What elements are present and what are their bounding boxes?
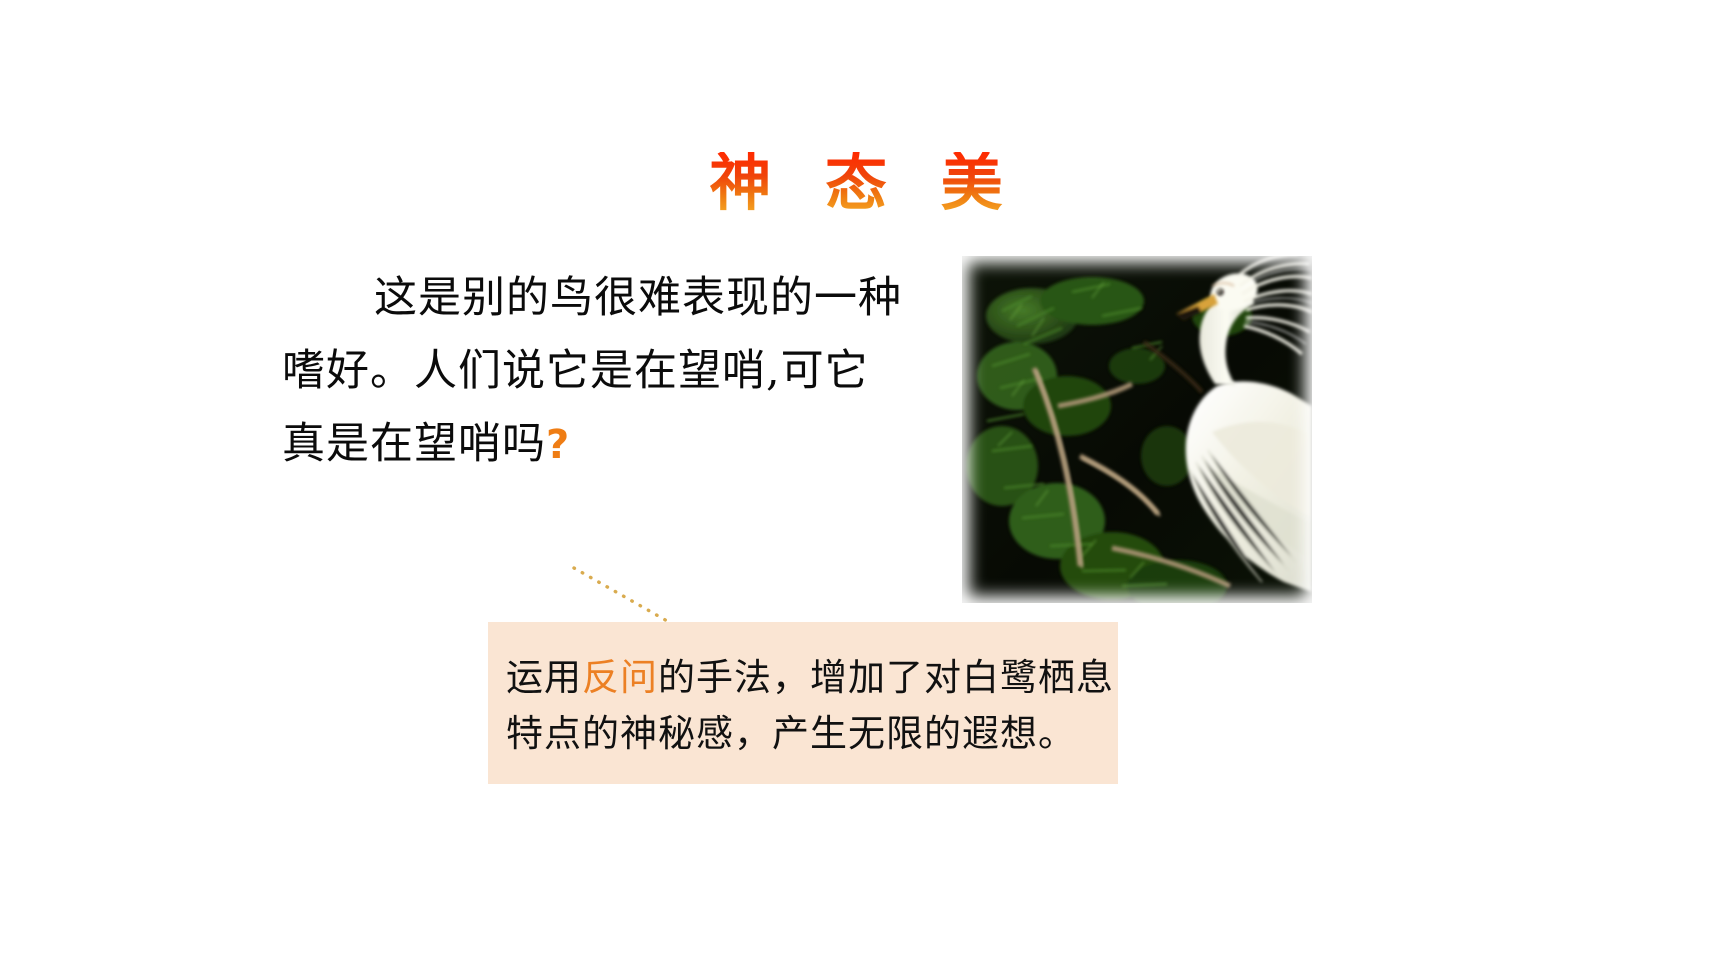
body-line-2: 嗜好。人们说它是在望哨,可它 bbox=[282, 335, 942, 408]
callout-line-2: 特点的神秘感，产生无限的遐想。 bbox=[506, 706, 1106, 762]
slide-canvas: 神 态 美 这是别的鸟很难表现的一种 嗜好。人们说它是在望哨,可它 真是在望哨吗… bbox=[0, 0, 1728, 972]
callout-line-1-pre: 运用 bbox=[506, 656, 582, 699]
callout-text: 运用反问的手法，增加了对白鹭栖息 特点的神秘感，产生无限的遐想。 bbox=[506, 650, 1106, 762]
question-mark: ? bbox=[546, 422, 570, 468]
page-title: 神 态 美 bbox=[0, 152, 1728, 214]
egret-photo bbox=[962, 256, 1312, 603]
body-line-1-text: 这是别的鸟很难表现的一种 bbox=[374, 273, 902, 323]
callout-highlight-term: 反问 bbox=[582, 656, 658, 699]
callout-line-1-post: 的手法，增加了对白鹭栖息 bbox=[658, 656, 1114, 699]
body-line-1: 这是别的鸟很难表现的一种 bbox=[282, 262, 942, 335]
egret-photo-illustration bbox=[962, 256, 1312, 603]
callout-box: 运用反问的手法，增加了对白鹭栖息 特点的神秘感，产生无限的遐想。 bbox=[488, 622, 1118, 784]
callout-line-1: 运用反问的手法，增加了对白鹭栖息 bbox=[506, 650, 1106, 706]
body-line-3-text: 真是在望哨吗 bbox=[282, 419, 546, 469]
body-line-2-text: 嗜好。人们说它是在望哨,可它 bbox=[282, 346, 869, 396]
body-line-3: 真是在望哨吗? bbox=[282, 408, 942, 482]
callout-line-2-pre: 特点的神秘感，产生无限的遐想。 bbox=[506, 712, 1076, 755]
body-paragraph: 这是别的鸟很难表现的一种 嗜好。人们说它是在望哨,可它 真是在望哨吗? bbox=[282, 262, 942, 482]
